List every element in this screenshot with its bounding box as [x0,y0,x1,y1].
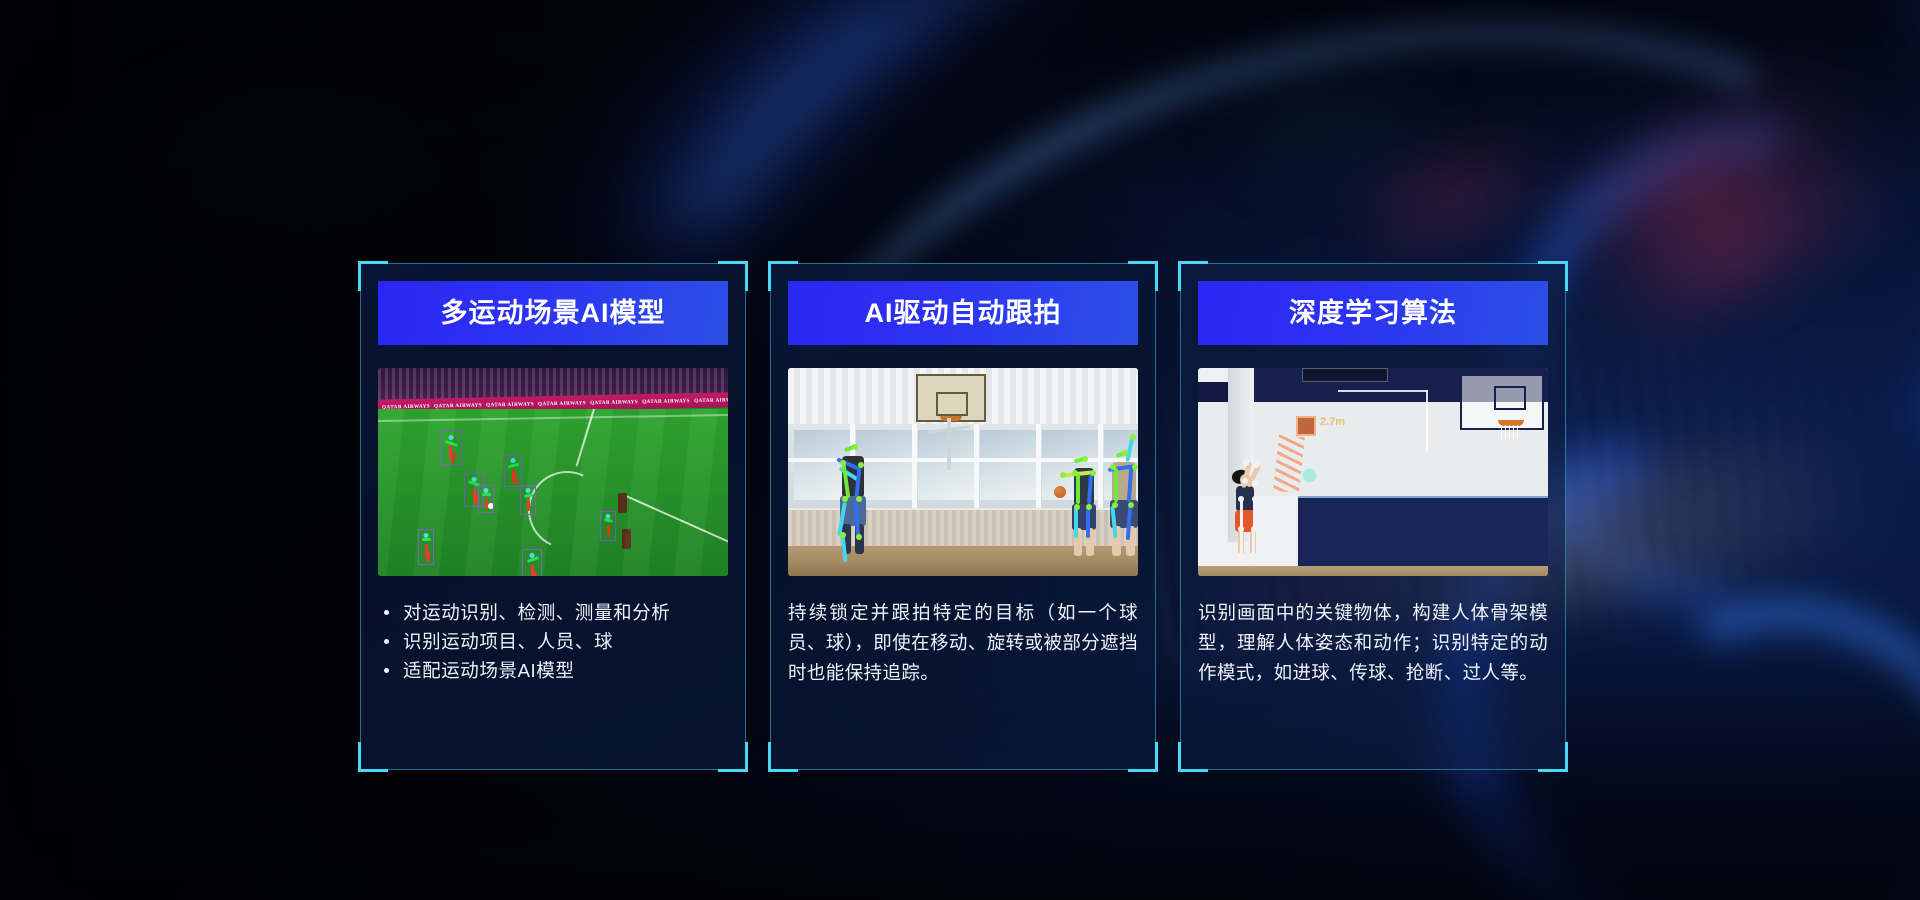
scoreboard [1302,368,1388,382]
detection-box-1 [440,431,462,465]
skeleton-bone-torso-right [1240,498,1243,528]
ad-board-text-4: QATAR AIRWAYS [534,400,586,407]
soccer-pitch-detection-image: QATAR AIRWAYS QATAR AIRWAYS QATAR AIRWAY… [378,368,728,576]
player-untracked-2 [622,529,631,549]
window-mullion-v-2 [912,424,917,508]
detection-box-7 [418,529,434,565]
ball-height-label: 2.7m [1320,416,1345,428]
backboard [916,374,986,422]
shot-trajectory-tracking-image: 2.7m [1198,368,1548,576]
window-pane-4 [980,430,1036,500]
detection-box-8 [522,549,542,576]
pitch-line-diag-2 [626,495,728,549]
keypoint-elbow-left [1252,480,1258,486]
feature-description: 持续锁定并跟拍特定的目标（如一个球员、球），即使在移动、旋转或被部分遮挡时也能保… [788,598,1138,688]
card-title: 深度学习算法 [1289,300,1457,327]
hud-marker-icon [1302,468,1317,483]
feature-bullet-list: 对运动识别、检测、测量和分析 识别运动项目、人员、球 适配运动场景AI模型 [378,598,728,686]
detection-box-3 [464,473,484,507]
window-mullion-v-3 [974,424,979,508]
window-pane-3 [918,430,974,500]
ad-board-text-7: QATAR AIRWAYS [690,397,728,404]
hoop-pole [947,418,951,470]
player-shooting-pose [1226,466,1268,570]
pitch-center-arc [517,460,617,560]
list-item: 识别运动项目、人员、球 [378,627,728,656]
basketball [1054,486,1066,498]
soccer-ball [488,503,494,509]
pitch-line-top [378,414,728,422]
keypoint-elbow-right [1242,478,1248,484]
ad-board-text-3: QATAR AIRWAYS [482,401,534,408]
ball-tracking-box [1296,416,1316,436]
ad-board-text-6: QATAR AIRWAYS [638,398,690,405]
player-untracked-1 [618,493,627,513]
card-title: 多运动场景AI模型 [441,300,666,327]
card-header-band: 多运动场景AI模型 [378,281,728,345]
detection-box-2 [504,455,522,487]
card-title: AI驱动自动跟拍 [865,300,1062,327]
feature-card-ai-auto-tracking[interactable]: AI驱动自动跟拍 [770,263,1156,770]
skeleton-bone-thigh-left [1252,528,1255,554]
tracking-guide-horizontal [1338,390,1428,392]
pitch-line-diag-1 [576,409,595,467]
hoop-rim [940,416,962,421]
feature-card-list: 多运动场景AI模型 QATAR AIRWAYS QATAR AIRWAYS QA… [0,0,1920,900]
keypoint-wrist-right [1243,460,1249,466]
gym-basketball-pose-image [788,368,1138,576]
pitch-grass [378,409,728,576]
window-mullion-v-4 [1036,424,1041,508]
feature-description: 识别画面中的关键物体，构建人体骨架模型，理解人体姿态和动作；识别特定的动作模式，… [1198,598,1548,688]
list-item: 对运动识别、检测、测量和分析 [378,598,728,627]
list-item: 适配运动场景AI模型 [378,656,728,685]
card-header-band: AI驱动自动跟拍 [788,281,1138,345]
court-wall-padding [1298,496,1548,568]
player-pose-left [826,442,880,572]
skeleton-bone-thigh-right [1240,528,1243,554]
card-body: 识别画面中的关键物体，构建人体骨架模型，理解人体姿态和动作；识别特定的动作模式，… [1198,598,1548,688]
card-header-band: 深度学习算法 [1198,281,1548,345]
keypoint-wrist-left [1253,462,1259,468]
card-body: 持续锁定并跟拍特定的目标（如一个球员、球），即使在移动、旋转或被部分遮挡时也能保… [788,598,1138,688]
backboard-square [1494,386,1526,410]
ad-board-text-5: QATAR AIRWAYS [586,399,638,406]
player-pose-right [1094,436,1138,570]
feature-card-deep-learning-algorithm[interactable]: 深度学习算法 [1180,263,1566,770]
detection-box-6 [600,511,616,541]
tracking-guide-vertical [1426,390,1428,452]
card-body: 对运动识别、检测、测量和分析 识别运动项目、人员、球 适配运动场景AI模型 [378,598,728,686]
detection-box-5 [520,485,536,515]
hoop-net [1501,425,1521,439]
backboard-square [936,392,968,416]
ad-board-text-2: QATAR AIRWAYS [430,402,482,409]
skeleton-bone-torso-left [1253,498,1256,528]
feature-card-multi-sport-ai-model[interactable]: 多运动场景AI模型 QATAR AIRWAYS QATAR AIRWAYS QA… [360,263,746,770]
detection-box-4 [478,485,494,513]
